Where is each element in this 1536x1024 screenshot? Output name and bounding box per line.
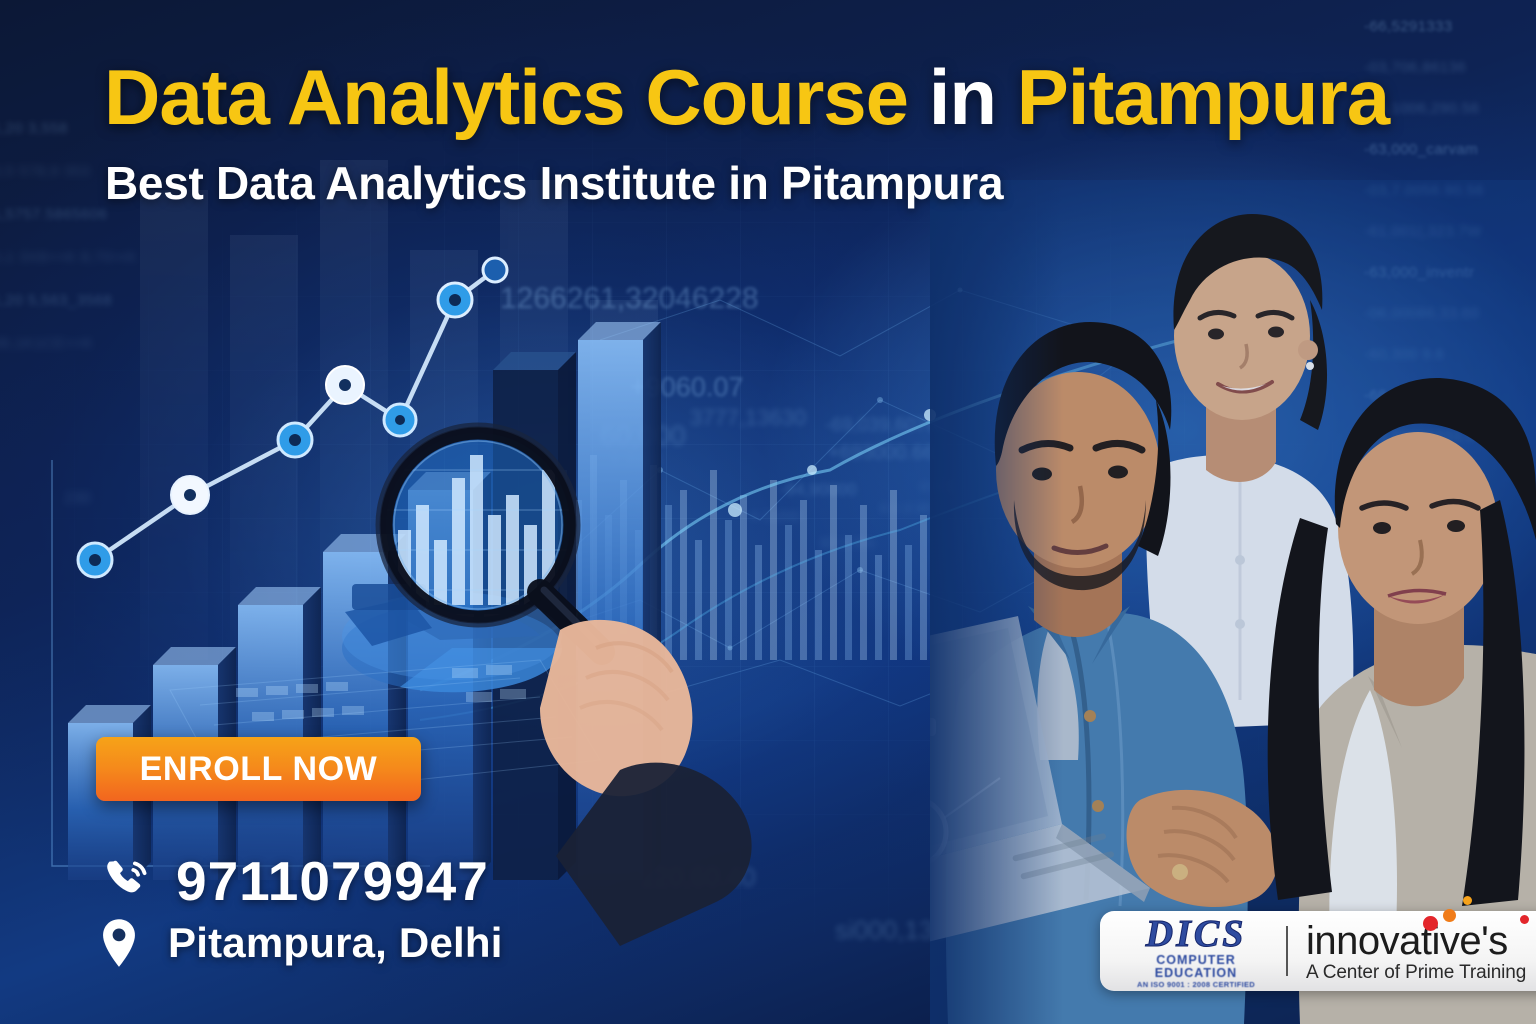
location-text: Pitampura, Delhi bbox=[168, 919, 503, 967]
innovatives-logo: innovative's A Center of Prime Training bbox=[1306, 918, 1526, 984]
headline-part-1: Data Analytics Course bbox=[104, 53, 908, 141]
logo-dot-orange-small bbox=[1463, 896, 1472, 905]
location-contact-row[interactable]: Pitampura, Delhi bbox=[100, 918, 503, 968]
enroll-now-button[interactable]: ENROLL NOW bbox=[96, 737, 421, 801]
headline-part-3: Pitampura bbox=[1017, 53, 1389, 141]
background-data-text: -69,039,60780 bbox=[825, 415, 948, 437]
dics-subtitle-line2: AN ISO 9001 : 2008 CERTIFIED bbox=[1116, 981, 1276, 989]
headline-part-2: in bbox=[908, 53, 1017, 141]
dics-logo: DICS COMPUTER EDUCATION AN ISO 9001 : 20… bbox=[1116, 914, 1276, 989]
background-data-text: -66,5291333 bbox=[1364, 18, 1534, 35]
background-data-text: -94,90000 bbox=[780, 480, 857, 500]
background-data-text: 4 3,000 bbox=[750, 508, 800, 525]
page-subtitle: Best Data Analytics Institute in Pitampu… bbox=[105, 156, 1003, 210]
background-data-text: si000,13680 bbox=[835, 915, 977, 946]
logo-dot-red-large bbox=[1423, 916, 1438, 931]
background-data-text: 120,60.40 bbox=[640, 862, 756, 893]
background-data-text: 60,000 bbox=[600, 420, 686, 452]
dics-wordmark: DICS bbox=[1116, 916, 1276, 952]
innovatives-tagline: A Center of Prime Training bbox=[1306, 962, 1526, 984]
background-data-text: -68,70000 2s bbox=[1364, 387, 1534, 404]
background-data-text: 1 3,00 bbox=[610, 450, 660, 471]
background-data-text: -06,00086,33.60 bbox=[1364, 305, 1534, 322]
background-data-text: +693000.66 bbox=[828, 442, 934, 465]
logo-divider bbox=[1286, 926, 1288, 976]
background-data-text: 230 bbox=[64, 490, 91, 508]
background-data-text: -63,000_carvam bbox=[1364, 141, 1534, 158]
background-data-text: 3777,13630 bbox=[690, 405, 806, 431]
background-data-text: -60,300 9.6 bbox=[1364, 346, 1534, 363]
background-data-text: 83 3 9% bbox=[820, 535, 875, 552]
logo-dot-orange-large bbox=[1443, 909, 1456, 922]
background-data-text: 1266261,32046228 bbox=[500, 282, 759, 316]
background-data-text: -03,60056333.5 bbox=[1364, 428, 1534, 445]
background-data-text: 1,20 5,563_3568 bbox=[0, 292, 222, 309]
phone-number: 9711079947 bbox=[176, 849, 489, 913]
logo-dot-red-small bbox=[1520, 915, 1529, 924]
map-pin-icon bbox=[100, 918, 138, 968]
dics-subtitle-line1: COMPUTER EDUCATION bbox=[1116, 954, 1276, 980]
page-title: Data Analytics Course in Pitampura bbox=[104, 58, 1444, 136]
phone-call-icon bbox=[100, 854, 154, 908]
background-data-text: 8 1 3 38 bbox=[880, 500, 931, 516]
background-data-text: -61,001(,323.7W bbox=[1364, 223, 1534, 240]
promo-banner: 1,20 3,5580,5 578,9 3531,5757.58656060,1… bbox=[0, 0, 1536, 1024]
background-data-text: +9060.07 bbox=[630, 372, 743, 403]
brand-logo-panel[interactable]: DICS COMPUTER EDUCATION AN ISO 9001 : 20… bbox=[1100, 911, 1536, 991]
phone-contact-row[interactable]: 9711079947 bbox=[100, 849, 489, 913]
background-data-text: -63,000_inventr bbox=[1364, 264, 1534, 281]
background-data-text: 9 000 bbox=[920, 478, 955, 494]
innovatives-wordmark: innovative's bbox=[1306, 921, 1526, 961]
background-data-text: 0,1 3X8>>K 8,70>rK bbox=[0, 249, 222, 266]
background-data-text: -03,7.0056.90.56 bbox=[1364, 182, 1534, 199]
background-data-text: 38,1K1CE>>K bbox=[0, 335, 222, 352]
